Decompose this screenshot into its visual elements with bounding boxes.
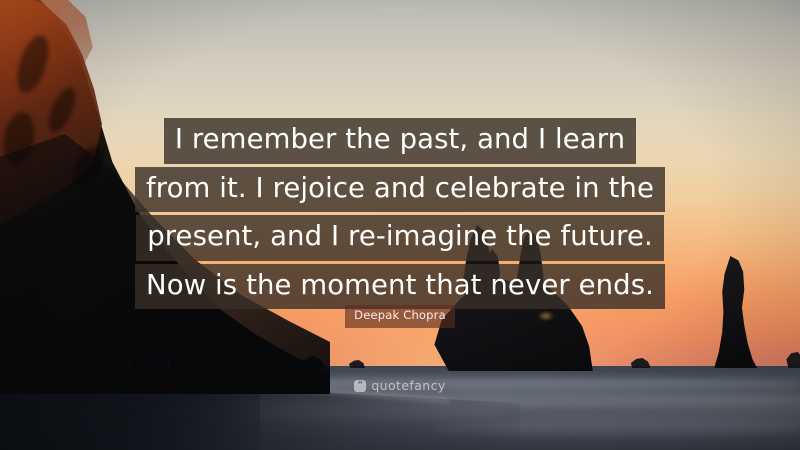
beach-figure: [168, 361, 170, 368]
beach-figure: [48, 360, 50, 367]
quote-line-2: from it. I rejoice and celebrate in the: [135, 167, 665, 213]
beach-figure: [186, 363, 188, 369]
quote-line-3: present, and I re-imagine the future.: [136, 215, 664, 261]
quote-author: Deepak Chopra: [345, 305, 455, 328]
quote-line-1: I remember the past, and I learn: [164, 118, 636, 164]
beach-figure: [62, 361, 64, 367]
quote-text-block: I remember the past, and I learn from it…: [0, 118, 800, 309]
quote-line-4: Now is the moment that never ends.: [135, 264, 665, 310]
beach-figure: [104, 361, 106, 367]
beach-figure: [90, 359, 92, 367]
beach-figure: [145, 362, 147, 368]
quote-image: I remember the past, and I learn from it…: [0, 0, 800, 450]
attribution-row: Deepak Chopra: [0, 304, 800, 328]
beach-figure: [128, 360, 130, 367]
